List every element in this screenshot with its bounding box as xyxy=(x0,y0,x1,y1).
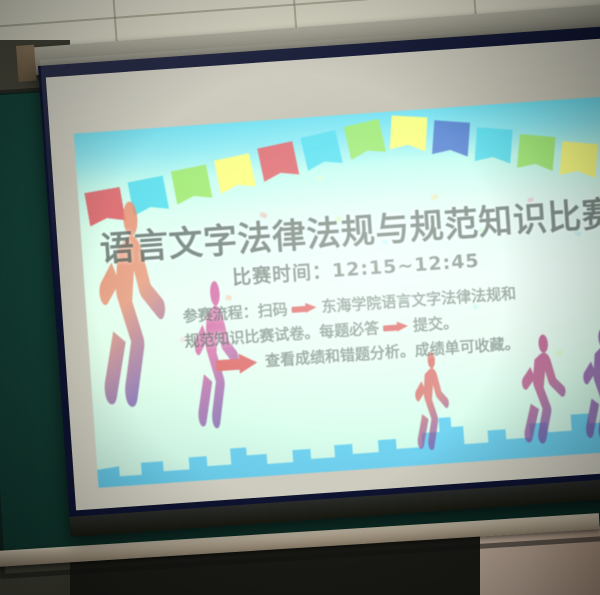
confetti-piece xyxy=(317,176,322,181)
bunting-flag xyxy=(300,130,343,171)
bunting-flag xyxy=(432,120,470,156)
body-line-2b: 提交。 xyxy=(412,313,458,334)
bunting-flag xyxy=(517,134,556,171)
bunting-flag xyxy=(257,141,299,182)
arrow-right-icon xyxy=(383,321,410,334)
bunting-flag xyxy=(475,127,513,163)
classroom-photo: 语言文字法律法规与规范知识比赛 比赛时间：12:15~12:45 参赛流程：扫码… xyxy=(0,0,600,595)
runner-silhouettes xyxy=(74,95,600,134)
bunting-flag xyxy=(344,119,387,160)
projected-slide: 语言文字法律法规与规范知识比赛 比赛时间：12:15~12:45 参赛流程：扫码… xyxy=(74,95,600,488)
bunting-flag xyxy=(214,153,256,194)
bunting-flag xyxy=(559,141,598,178)
arrow-right-large-icon xyxy=(216,352,259,375)
housing-endcap xyxy=(16,45,37,82)
screen-surface: 语言文字法律法规与规范知识比赛 比赛时间：12:15~12:45 参赛流程：扫码… xyxy=(46,38,600,510)
body-line-1a: 参赛流程：扫码 xyxy=(182,300,288,325)
projector-screen: 语言文字法律法规与规范知识比赛 比赛时间：12:15~12:45 参赛流程：扫码… xyxy=(38,26,600,537)
bunting-flag xyxy=(390,115,428,151)
bunting-flag xyxy=(171,164,213,204)
arrow-right-icon xyxy=(291,302,318,315)
